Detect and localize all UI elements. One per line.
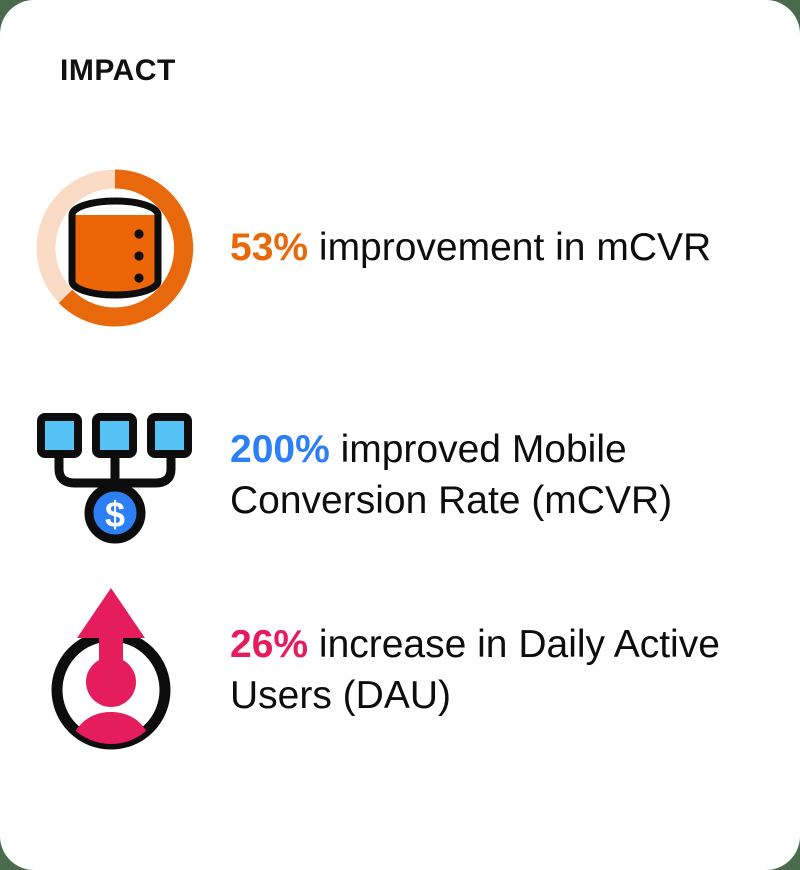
stat-item-mcvr-improvement: 53% improvement in mCVR: [0, 158, 800, 338]
impact-card: IMPACT: [0, 0, 800, 870]
stat-icon-cell: [0, 580, 230, 760]
stat-value: 53%: [230, 226, 308, 269]
stat-value: 200%: [230, 428, 330, 471]
stat-line: 53% improvement in mCVR: [230, 222, 760, 273]
database-donut-icon: [25, 158, 205, 338]
stat-text-cell: 26% increase in Daily Active Users (DAU): [230, 619, 800, 722]
network-dollar-icon: $: [35, 405, 195, 545]
stat-icon-cell: $: [0, 405, 230, 545]
stat-item-daily-active-users: 26% increase in Daily Active Users (DAU): [0, 580, 800, 760]
stat-value: 26%: [230, 623, 308, 666]
stat-description: improvement in mCVR: [308, 226, 711, 269]
stat-text-cell: 200% improved Mobile Conversion Rate (mC…: [230, 424, 800, 527]
stat-line: 26% increase in Daily Active Users (DAU): [230, 619, 760, 722]
stat-line: 200% improved Mobile Conversion Rate (mC…: [230, 424, 760, 527]
svg-text:$: $: [105, 494, 125, 535]
user-growth-arrow-icon: [35, 580, 195, 760]
page-background: IMPACT: [0, 0, 800, 870]
stat-item-mobile-conversion-rate: $ 200% improved Mobile Conversion Rate (…: [0, 400, 800, 550]
stat-text-cell: 53% improvement in mCVR: [230, 222, 800, 273]
stat-icon-cell: [0, 158, 230, 338]
page-title: IMPACT: [60, 56, 176, 86]
